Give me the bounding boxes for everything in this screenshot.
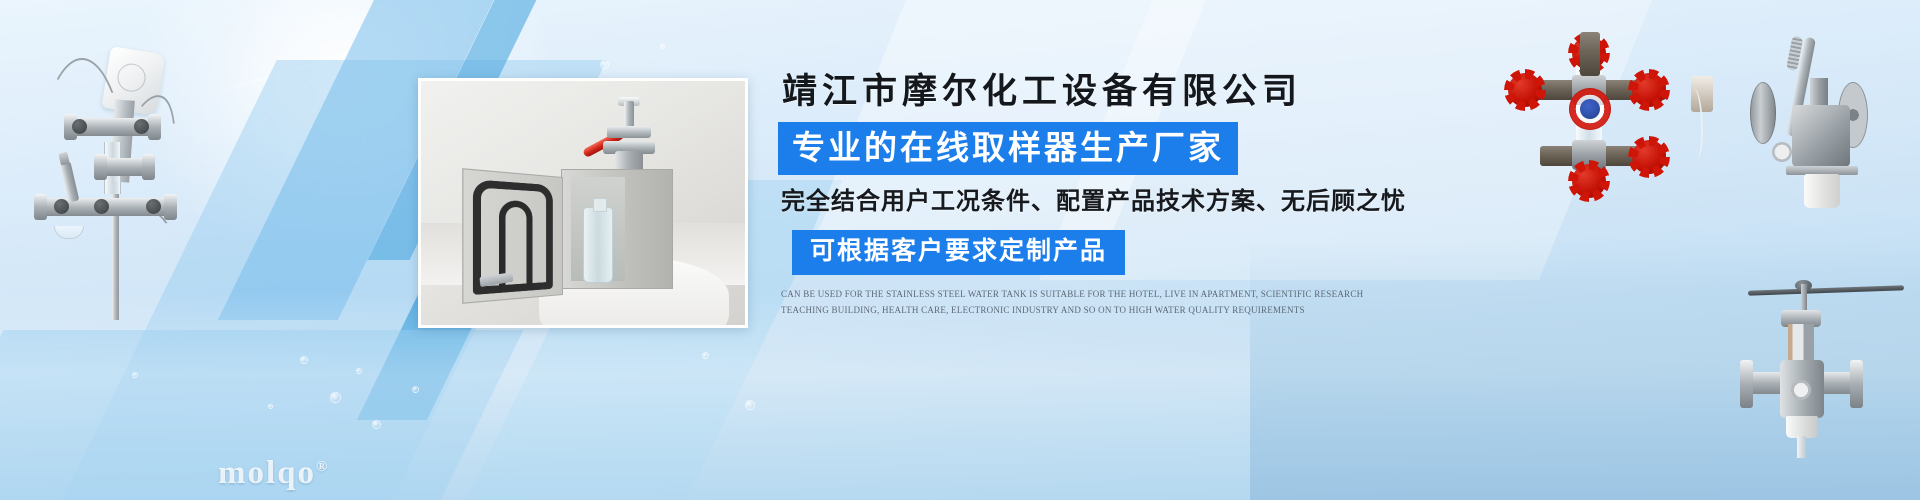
sun-ray-icon xyxy=(227,54,346,148)
red-handwheel xyxy=(1508,73,1542,107)
red-handwheel xyxy=(1572,164,1606,198)
watermark-logo-text: molqo xyxy=(218,455,316,491)
water-droplet-icon xyxy=(132,372,138,378)
product-image-flanged-gate-valve xyxy=(1740,260,1920,455)
water-droplet-icon xyxy=(412,386,419,393)
company-seal-logo xyxy=(1569,88,1611,130)
water-droplet-icon xyxy=(268,404,273,409)
seal-emblem-icon xyxy=(1580,99,1600,119)
valve-stem xyxy=(624,101,634,129)
flange xyxy=(148,114,161,140)
watermark-logo: molqo® xyxy=(218,455,329,492)
subline-text: 完全结合用户工况条件、配置产品技术方案、无后顾之忧 xyxy=(781,188,1398,216)
water-droplet-icon xyxy=(372,420,381,429)
trademark-icon: ® xyxy=(316,459,329,475)
valve-stand xyxy=(1797,436,1806,458)
sun-ray-icon xyxy=(319,55,347,203)
flange xyxy=(142,154,155,180)
english-description: CAN BE USED FOR THE STAINLESS STEEL WATE… xyxy=(781,287,1391,319)
valve-knob xyxy=(72,119,87,134)
cabinet-open-door xyxy=(462,168,563,304)
valve-yoke xyxy=(1788,324,1814,364)
valve-knob xyxy=(94,199,109,214)
water-droplet-icon xyxy=(330,392,341,403)
flange xyxy=(34,194,47,220)
sample-outlet-cup xyxy=(1804,174,1840,208)
valve-body xyxy=(1792,105,1850,167)
water-droplet-icon xyxy=(600,60,609,69)
valve-knob xyxy=(146,199,161,214)
water-droplet-icon xyxy=(300,356,308,364)
valve-knob xyxy=(134,119,149,134)
sample-bottle xyxy=(583,207,613,283)
sun-ray-icon xyxy=(345,55,378,202)
valve-nameplate xyxy=(1772,142,1792,162)
company-name: 靖江市摩尔化工设备有限公司 xyxy=(782,72,1398,111)
valve-flange-right xyxy=(1850,360,1863,408)
valve-flange-left xyxy=(1740,360,1753,408)
valve-flange-left xyxy=(1750,82,1776,144)
product-photo-online-sampler-cabinet xyxy=(418,78,748,328)
valve-knob xyxy=(54,199,69,214)
headline-badge: 专业的在线取样器生产厂家 xyxy=(778,122,1238,175)
red-handwheel xyxy=(1632,73,1666,107)
valve-outlet xyxy=(1786,416,1818,438)
red-handwheel xyxy=(1632,140,1666,174)
water-droplet-icon xyxy=(702,352,709,359)
product-image-sampling-valve-assembly xyxy=(8,20,208,320)
water-droplet-icon xyxy=(745,400,755,410)
cabinet-top-valve xyxy=(597,99,661,173)
photo-content xyxy=(421,81,745,325)
sun-ray-icon xyxy=(270,55,347,186)
flange xyxy=(94,154,107,180)
valve-flange-upper xyxy=(607,126,651,138)
promotional-banner: 靖江市摩尔化工设备有限公司 专业的在线取样器生产厂家 完全结合用户工况条件、配置… xyxy=(0,0,1920,500)
flange xyxy=(164,194,177,220)
water-droplet-icon xyxy=(660,44,665,49)
cta-badge-custom-products[interactable]: 可根据客户要求定制产品 xyxy=(792,230,1125,275)
manifold-stem-top xyxy=(1580,32,1600,76)
gate-valve-handwheel xyxy=(1748,285,1904,295)
product-image-lever-flange-valve xyxy=(1700,20,1920,225)
valve-nameplate xyxy=(1791,380,1811,400)
water-droplet-icon xyxy=(356,368,362,374)
product-image-red-handwheel-manifold xyxy=(1480,30,1705,175)
banner-copy: 靖江市摩尔化工设备有限公司 专业的在线取样器生产厂家 完全结合用户工况条件、配置… xyxy=(778,72,1398,318)
sun-ray-icon xyxy=(202,54,347,97)
